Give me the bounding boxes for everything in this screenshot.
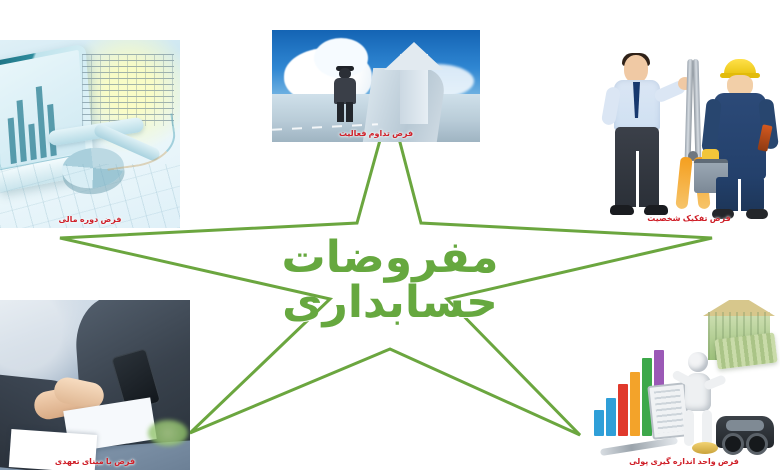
chart-bar (618, 384, 628, 436)
businessman-figure (332, 68, 358, 122)
pen-icon (600, 437, 678, 456)
slide-canvas: مفروضات حسابداری فرض دوره مالی (0, 0, 780, 470)
3d-person-figure (676, 352, 718, 452)
title-line-2: حسابداری (255, 280, 525, 327)
leg-gap (738, 179, 741, 211)
torso-shape (334, 78, 356, 104)
car-icon (716, 416, 774, 448)
node-label-accrual-basis: فرض با مبنای تعهدی (0, 458, 190, 467)
car-wheel (722, 433, 744, 455)
plant-blur (148, 420, 188, 446)
node-image-going-concern[interactable]: فرض تداوم فعالیت (272, 30, 480, 142)
car-wheel (746, 433, 768, 455)
coins-icon (692, 442, 718, 454)
chart-bar (606, 398, 616, 436)
head-shape (688, 352, 708, 372)
chart-bar (594, 410, 604, 436)
leg-shape (702, 410, 712, 446)
blade-shape (693, 59, 702, 163)
handle-shape (675, 157, 692, 210)
node-image-financial-period[interactable]: فرض دوره مالی (0, 40, 180, 228)
node-image-monetary-unit[interactable]: فرض واحد اندازه گیری پولی (588, 300, 780, 470)
leg-shape (337, 102, 344, 122)
node-image-separate-entity[interactable]: فرض تفکیک شخصیت (598, 45, 780, 227)
node-label-monetary-unit: فرض واحد اندازه گیری پولی (588, 458, 780, 467)
leg-shape (346, 102, 353, 122)
car-window (726, 420, 764, 431)
page-title: مفروضات حسابداری (255, 235, 525, 326)
node-label-separate-entity: فرض تفکیک شخصیت (598, 215, 780, 224)
trend-curve-icon (101, 113, 179, 171)
node-label-financial-period: فرض دوره مالی (0, 216, 180, 225)
worker-figure (706, 59, 774, 221)
shoe-shape (610, 205, 634, 215)
title-line-1: مفروضات (255, 235, 525, 282)
banknote-stack-icon (714, 332, 777, 369)
up-arrow-icon (384, 42, 444, 70)
leg-gap (636, 151, 639, 207)
node-image-accrual-basis[interactable]: فرض با مبنای تعهدی (0, 300, 190, 470)
node-label-going-concern: فرض تداوم فعالیت (272, 130, 480, 139)
chart-bar (630, 372, 640, 436)
businessman-figure (606, 55, 670, 221)
head-shape (624, 55, 648, 83)
leg-shape (684, 410, 694, 446)
